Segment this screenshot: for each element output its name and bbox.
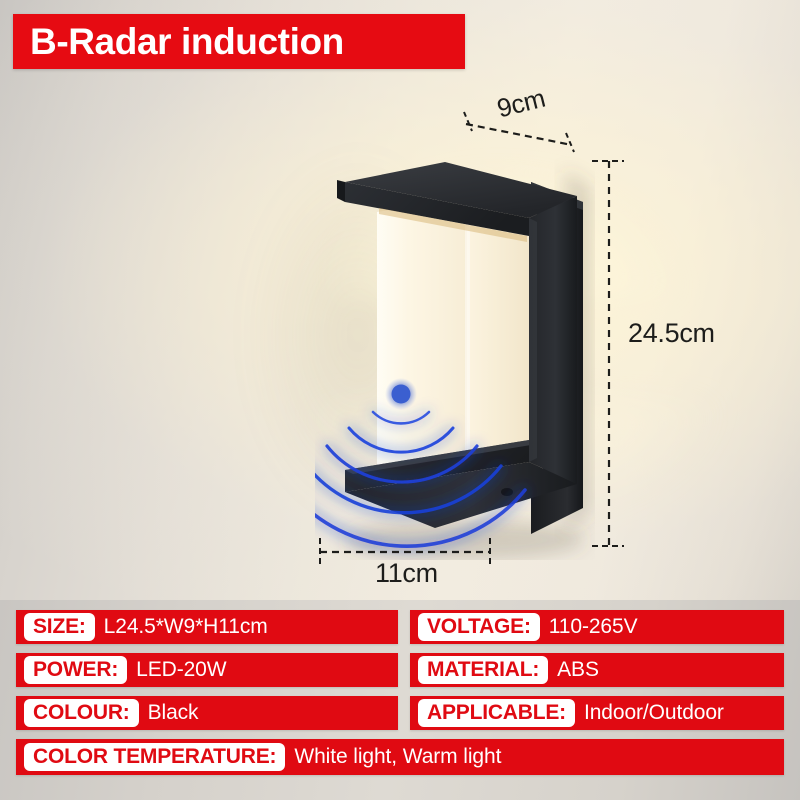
wall-lamp xyxy=(315,140,595,560)
title-text: B-Radar induction xyxy=(13,23,344,60)
spec-row-colour: COLOUR: Black xyxy=(16,696,398,730)
spec-label-colour: COLOUR: xyxy=(24,699,139,728)
dimension-label-height: 24.5cm xyxy=(628,318,715,349)
spec-value-voltage: 110-265V xyxy=(549,615,638,639)
spec-value-power: LED-20W xyxy=(136,658,226,682)
dimension-label-depth: 9cm xyxy=(494,83,548,125)
title-banner: B-Radar induction xyxy=(13,14,465,69)
spec-value-size: L24.5*W9*H11cm xyxy=(104,615,268,639)
spec-row-material: MATERIAL: ABS xyxy=(410,653,784,687)
spec-label-power: POWER: xyxy=(24,656,127,685)
spec-label-material: MATERIAL: xyxy=(418,656,548,685)
spec-label-size: SIZE: xyxy=(24,613,95,642)
product-photo: 9cm 24.5cm 11cm B-Radar induction xyxy=(0,0,800,600)
spec-label-voltage: VOLTAGE: xyxy=(418,613,540,642)
spec-value-applicable: Indoor/Outdoor xyxy=(584,701,724,725)
dimension-label-width: 11cm xyxy=(375,558,438,589)
spec-row-power: POWER: LED-20W xyxy=(16,653,398,687)
spec-value-colour: Black xyxy=(148,701,199,725)
spec-label-color-temperature: COLOR TEMPERATURE: xyxy=(24,743,285,772)
spec-row-voltage: VOLTAGE: 110-265V xyxy=(410,610,784,644)
spec-table: SIZE: L24.5*W9*H11cm POWER: LED-20W COLO… xyxy=(0,600,800,800)
spec-value-color-temperature: White light, Warm light xyxy=(294,745,501,769)
spec-row-applicable: APPLICABLE: Indoor/Outdoor xyxy=(410,696,784,730)
product-spec-image: 9cm 24.5cm 11cm B-Radar induction SIZE: … xyxy=(0,0,800,800)
spec-row-size: SIZE: L24.5*W9*H11cm xyxy=(16,610,398,644)
spec-row-color-temperature: COLOR TEMPERATURE: White light, Warm lig… xyxy=(16,739,784,775)
spec-value-material: ABS xyxy=(557,658,599,682)
radar-sensor-dot xyxy=(392,385,411,404)
spec-label-applicable: APPLICABLE: xyxy=(418,699,575,728)
